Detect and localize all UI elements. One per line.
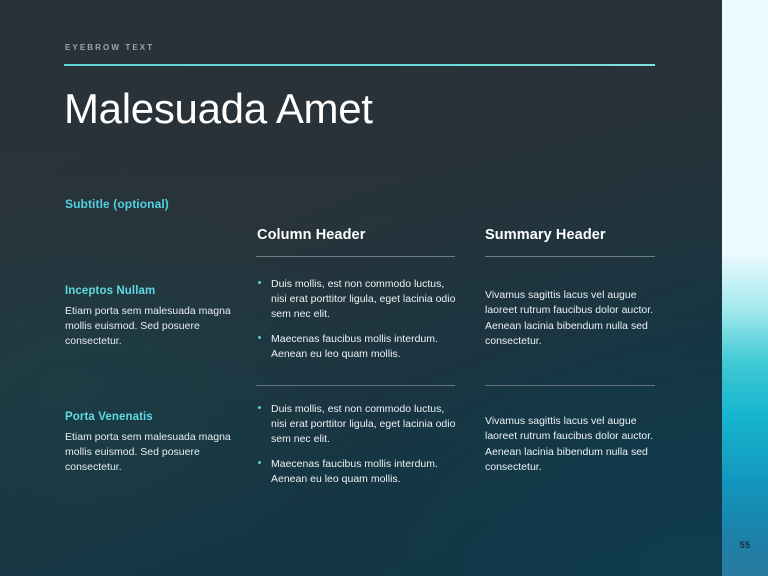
table-row: Porta Venenatis Etiam porta sem malesuad… <box>65 411 240 476</box>
list-item: Maecenas faucibus mollis interdum. Aenea… <box>256 457 461 487</box>
row-summary: Vivamus sagittis lacus vel augue laoreet… <box>485 414 665 476</box>
row-summary-text: Vivamus sagittis lacus vel augue laoreet… <box>485 414 665 476</box>
list-item-text: Maecenas faucibus mollis interdum. Aenea… <box>271 458 438 485</box>
row-title: Porta Venenatis <box>65 411 240 423</box>
accent-strip <box>722 0 768 576</box>
header-rule <box>64 64 655 66</box>
row-description: Etiam porta sem malesuada magna mollis e… <box>65 430 240 476</box>
slide-canvas: 55 EYEBROW TEXT Malesuada Amet Subtitle … <box>0 0 768 576</box>
list-item: Maecenas faucibus mollis interdum. Aenea… <box>256 332 461 362</box>
bullet-dot-icon <box>258 461 261 464</box>
list-item-text: Duis mollis, est non commodo luctus, nis… <box>271 278 455 320</box>
table-row: Inceptos Nullam Etiam porta sem malesuad… <box>65 285 240 350</box>
subtitle: Subtitle (optional) <box>65 197 169 211</box>
bullet-dot-icon <box>258 281 261 284</box>
bullet-dot-icon <box>258 336 261 339</box>
eyebrow-text: EYEBROW TEXT <box>65 43 154 52</box>
row-bullet-list: Duis mollis, est non commodo luctus, nis… <box>256 277 461 362</box>
column-header-underline-right <box>485 256 655 257</box>
list-item: Duis mollis, est non commodo luctus, nis… <box>256 277 461 323</box>
column-header-right: Summary Header <box>485 227 606 243</box>
row-bullet-list: Duis mollis, est non commodo luctus, nis… <box>256 402 461 487</box>
row-description: Etiam porta sem malesuada magna mollis e… <box>65 304 240 350</box>
list-item-text: Duis mollis, est non commodo luctus, nis… <box>271 403 455 445</box>
bullet-dot-icon <box>258 406 261 409</box>
page-number: 55 <box>722 540 768 550</box>
list-item-text: Maecenas faucibus mollis interdum. Aenea… <box>271 333 438 360</box>
row-divider-middle <box>256 385 455 386</box>
row-divider-right <box>485 385 655 386</box>
column-header-middle: Column Header <box>257 227 365 243</box>
row-title: Inceptos Nullam <box>65 285 240 297</box>
row-summary: Vivamus sagittis lacus vel augue laoreet… <box>485 288 665 350</box>
list-item: Duis mollis, est non commodo luctus, nis… <box>256 402 461 448</box>
page-title: Malesuada Amet <box>64 86 373 131</box>
row-summary-text: Vivamus sagittis lacus vel augue laoreet… <box>485 288 665 350</box>
column-header-underline-middle <box>256 256 455 257</box>
